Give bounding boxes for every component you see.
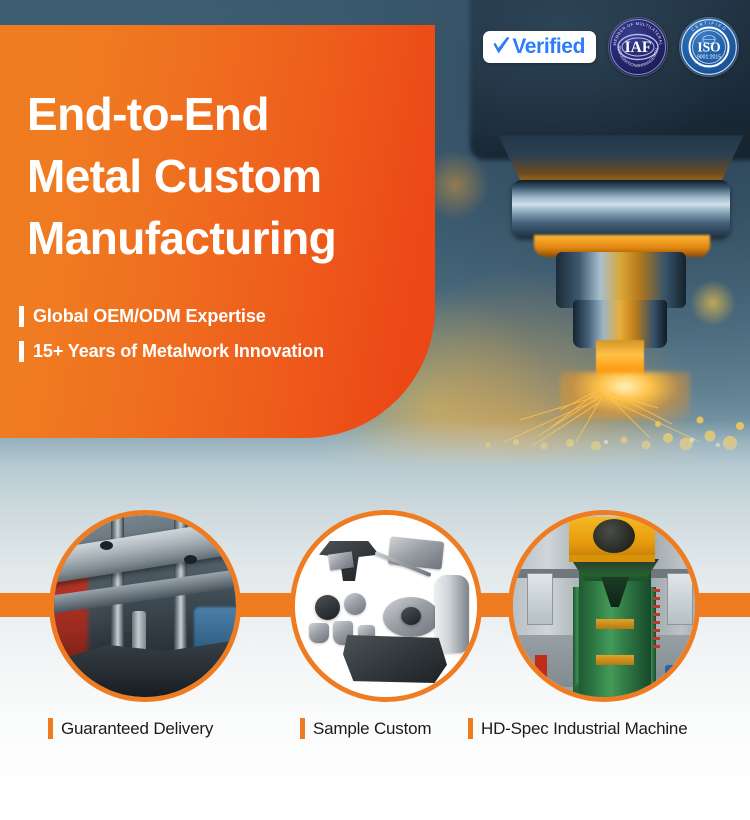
feature-image-3 — [508, 510, 700, 702]
caption-label-1: Guaranteed Delivery — [61, 719, 213, 739]
feature-images — [0, 505, 750, 820]
bokeh-light-right — [690, 280, 736, 326]
iso-seal-icon: CERTIFIED COMPANY ISO 9001:2015 — [680, 18, 738, 76]
caption-label-3: HD-Spec Industrial Machine — [481, 719, 687, 739]
stamping-die-photo — [54, 515, 236, 697]
part-cylinder — [435, 575, 469, 653]
photo-detail — [667, 573, 693, 625]
photo-detail — [665, 665, 683, 677]
part-chassis — [343, 635, 447, 683]
photo-detail — [184, 555, 197, 564]
caption-marker-icon — [468, 718, 473, 739]
part-hinge — [388, 536, 445, 569]
photo-detail — [596, 655, 634, 665]
bullet-marker-icon — [19, 306, 24, 327]
status-badge-verified: Verified — [483, 31, 596, 63]
bullet-label-2: 15+ Years of Metalwork Innovation — [33, 341, 324, 362]
photo-detail — [132, 611, 146, 653]
cnc-machine-collar — [512, 180, 730, 238]
part-bushing-2 — [344, 593, 366, 615]
caption-label-2: Sample Custom — [313, 719, 431, 739]
industrial-press-photo — [513, 515, 695, 697]
cnc-machine-taper — [498, 135, 744, 185]
status-badge-iaf: MEMBER OF MULTILATERAL RECOGNITIONARRANG… — [609, 18, 667, 76]
feature-image-2 — [290, 510, 482, 702]
photo-detail — [596, 619, 634, 629]
svg-text:IAF: IAF — [625, 39, 652, 56]
bullet-label-1: Global OEM/ODM Expertise — [33, 306, 266, 327]
caption-marker-icon — [48, 718, 53, 739]
part-fastener-1 — [309, 623, 329, 643]
list-item: 15+ Years of Metalwork Innovation — [19, 341, 324, 362]
part-bushing-1 — [315, 595, 340, 620]
feature-caption-1: Guaranteed Delivery — [48, 718, 213, 739]
check-icon — [492, 36, 511, 57]
part-flange-hub — [401, 607, 421, 625]
iaf-seal-icon: MEMBER OF MULTILATERAL RECOGNITIONARRANG… — [609, 18, 667, 76]
feature-caption-3: HD-Spec Industrial Machine — [468, 718, 687, 739]
photo-detail — [535, 655, 547, 683]
headline-line-3: Manufacturing — [27, 207, 427, 269]
metal-parts-photo — [295, 515, 477, 697]
feature-captions: Guaranteed Delivery Sample Custom HD-Spe… — [0, 718, 750, 758]
photo-detail — [593, 519, 635, 553]
headline-line-1: End-to-End — [27, 83, 427, 145]
svg-text:9001:2015: 9001:2015 — [697, 55, 721, 61]
verified-label: Verified — [512, 36, 585, 57]
hero-bullet-list: Global OEM/ODM Expertise 15+ Years of Me… — [19, 306, 324, 376]
photo-detail — [100, 541, 113, 550]
part-bracket-face — [328, 551, 354, 570]
caption-marker-icon — [300, 718, 305, 739]
list-item: Global OEM/ODM Expertise — [19, 306, 324, 327]
feature-caption-2: Sample Custom — [300, 718, 431, 739]
features-section — [0, 505, 750, 820]
page-title: End-to-End Metal Custom Manufacturing — [27, 83, 427, 269]
certification-badges: Verified MEMBER OF MULTILATERAL RECOGNIT… — [483, 18, 738, 76]
bullet-marker-icon — [19, 341, 24, 362]
svg-text:ISO: ISO — [697, 39, 720, 54]
feature-image-1 — [49, 510, 241, 702]
photo-detail — [527, 573, 553, 625]
headline-line-2: Metal Custom — [27, 145, 427, 207]
status-badge-iso: CERTIFIED COMPANY ISO 9001:2015 — [680, 18, 738, 76]
photo-detail — [653, 589, 660, 653]
photo-detail — [569, 555, 655, 562]
promotional-banner: Verified MEMBER OF MULTILATERAL RECOGNIT… — [0, 0, 750, 820]
